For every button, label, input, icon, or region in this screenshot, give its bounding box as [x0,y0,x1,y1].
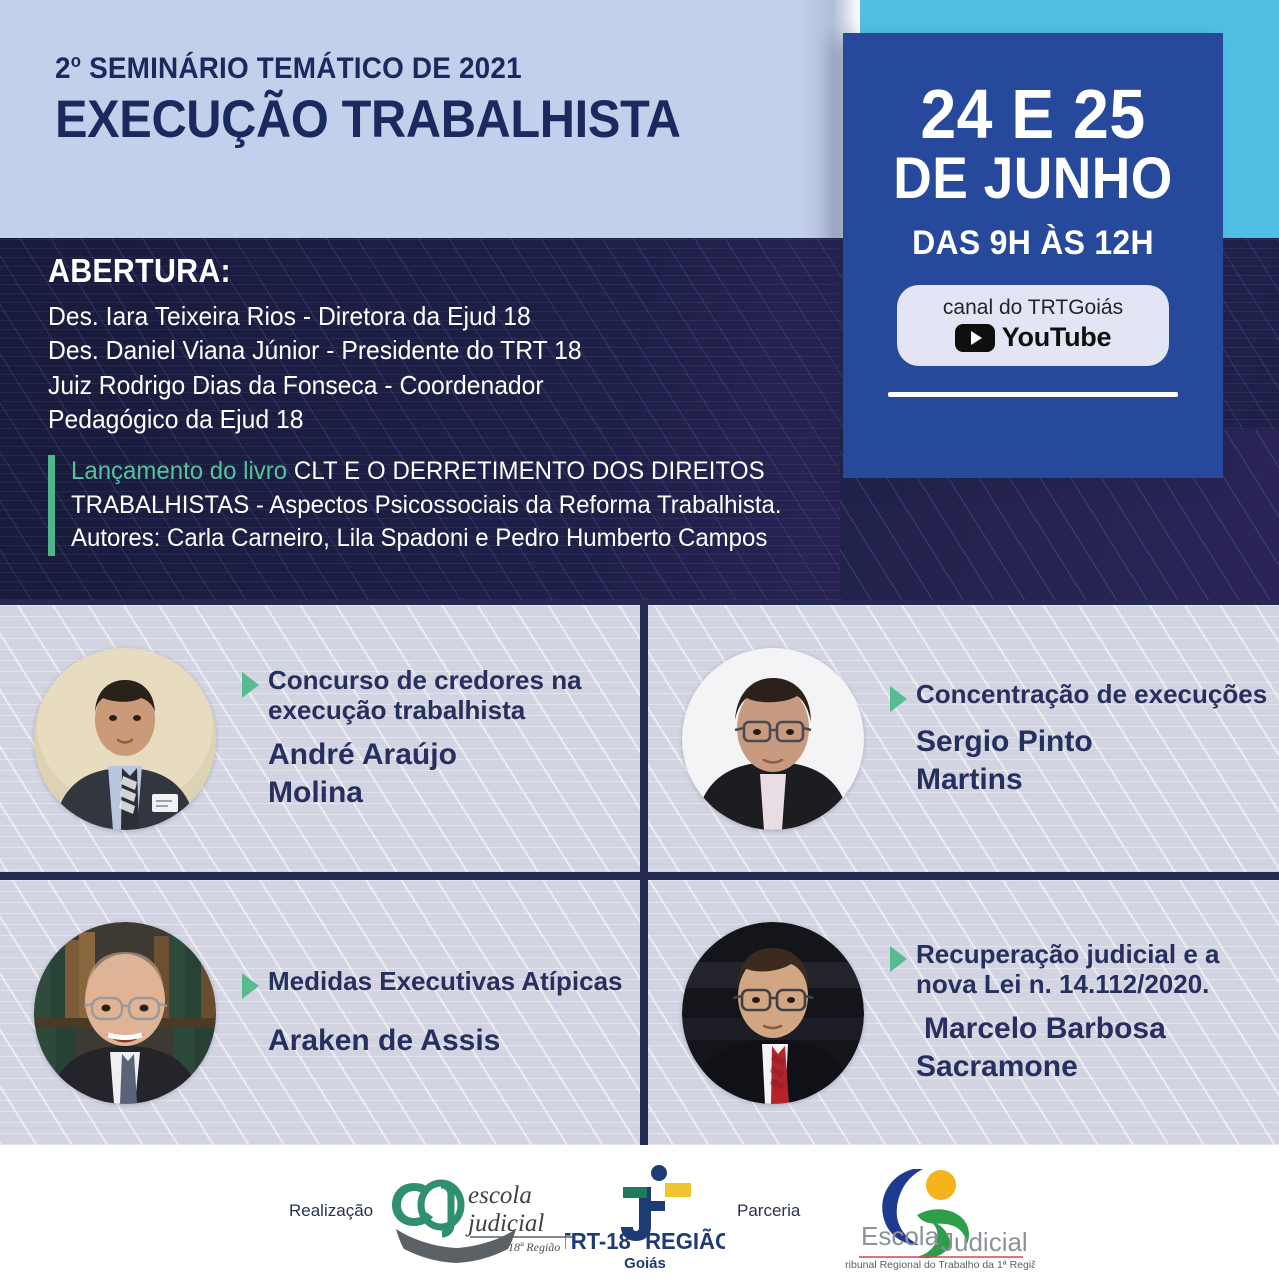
svg-text:Goiás: Goiás [624,1255,666,1272]
channel-label: canal do TRTGoiás [897,296,1169,319]
book-launch-section: Lançamento do livro CLT E O DERRETIMENTO… [48,455,871,556]
youtube-logo: YouTube [897,322,1169,353]
trt-18-regiao-logo: TRT-18ª REGIÃO Goiás [565,1161,725,1273]
svg-text:18ª Região: 18ª Região [508,1240,560,1254]
avatar [34,648,216,830]
svg-text:Escola: Escola [861,1221,940,1251]
youtube-play-icon [955,324,995,352]
youtube-channel-pill[interactable]: canal do TRTGoiás YouTube [897,285,1169,366]
triangle-bullet-icon [242,672,259,698]
speaker-card[interactable]: Recuperação judicial e a nova Lei n. 14.… [648,880,1279,1145]
speaker-name: Araken de Assis [268,1023,623,1059]
opening-title: ABERTURA: [48,252,775,290]
svg-text:Judicial: Judicial [941,1227,1028,1257]
speaker-topic-row: Concentração de execuções [890,680,1267,712]
event-kicker: 2o SEMINÁRIO TEMÁTICO DE 2021 [55,52,743,85]
speaker-name: Sergio Pinto [916,724,1267,760]
footer: Realização escola judicial 18ª Região [0,1145,1279,1280]
book-title-part1: CLT E O DERRETIMENTO DOS DIREITOS [287,457,765,485]
realizacao-label: Realização [289,1201,373,1221]
speaker-name: Marcelo Barbosa [924,1011,1279,1047]
triangle-bullet-icon [890,686,907,712]
event-poster: 2o SEMINÁRIO TEMÁTICO DE 2021 EXECUÇÃO T… [0,0,1279,1280]
triangle-bullet-icon [890,946,907,972]
speakers-grid: Concurso de credores na execução trabalh… [0,600,1279,1145]
speaker-topic: Concurso de credores na execução trabalh… [268,666,640,725]
speaker-name-cont: Martins [916,762,1267,798]
speaker-text: Medidas Executivas Atípicas Araken de As… [242,967,623,1059]
opening-line: Des. Iara Teixeira Rios - Diretora da Ej… [48,300,799,333]
book-launch-line1: Lançamento do livro CLT E O DERRETIMENTO… [71,455,839,489]
page-title: EXECUÇÃO TRABALHISTA [55,91,736,148]
parceria-label: Parceria [737,1201,800,1221]
speaker-topic: Recuperação judicial e a nova Lei n. 14.… [916,940,1279,999]
speaker-text: Recuperação judicial e a nova Lei n. 14.… [890,940,1279,1085]
kicker-rest: SEMINÁRIO TEMÁTICO DE 2021 [81,52,522,85]
book-title-part2: TRABALHISTAS - Aspectos Psicossociais da… [71,489,839,523]
event-time: DAS 9H ÀS 12H [854,224,1211,263]
speaker-topic: Medidas Executivas Atípicas [268,967,623,997]
svg-text:Tribunal Regional do Trabalho: Tribunal Regional do Trabalho da 1ª Regi… [845,1259,1035,1271]
speaker-topic-row: Concurso de credores na execução trabalh… [242,666,640,725]
book-authors: Autores: Carla Carneiro, Lila Spadoni e … [71,522,839,556]
book-launch-highlight: Lançamento do livro [71,457,287,485]
escola-judicial-18-logo: escola judicial 18ª Região [384,1167,584,1267]
speaker-name: André Araújo [268,737,640,773]
event-days: 24 E 25 [858,81,1208,148]
speaker-text: Concurso de credores na execução trabalh… [242,666,640,811]
escola-judicial-trt1-logo: Escola Judicial Tribunal Regional do Tra… [845,1163,1035,1271]
speaker-topic-row: Medidas Executivas Atípicas [242,967,623,999]
opening-section: ABERTURA: Des. Iara Teixeira Rios - Dire… [48,252,838,436]
event-month: DE JUNHO [858,150,1208,208]
avatar [34,922,216,1104]
speaker-topic-row: Recuperação judicial e a nova Lei n. 14.… [890,940,1279,999]
svg-text:judicial: judicial [465,1210,544,1237]
speaker-topic: Concentração de execuções [916,680,1267,710]
speaker-name-cont: Molina [268,775,640,811]
triangle-bullet-icon [242,973,259,999]
opening-line: Juiz Rodrigo Dias da Fonseca - Coordenad… [48,369,799,402]
speaker-card[interactable]: Concurso de credores na execução trabalh… [0,605,640,872]
kicker-prefix: 2 [55,52,71,85]
svg-text:TRT-18ª REGIÃO: TRT-18ª REGIÃO [565,1229,725,1255]
kicker-ordinal: o [71,51,81,71]
speaker-text: Concentração de execuções Sergio Pinto M… [890,680,1267,798]
date-card: 24 E 25 DE JUNHO DAS 9H ÀS 12H canal do … [843,33,1223,478]
poster-header: 2o SEMINÁRIO TEMÁTICO DE 2021 EXECUÇÃO T… [55,52,795,148]
avatar [682,648,864,830]
avatar [682,922,864,1104]
speaker-name-cont: Sacramone [916,1049,1279,1085]
speaker-card[interactable]: Medidas Executivas Atípicas Araken de As… [0,880,640,1145]
youtube-wordmark: YouTube [1002,322,1111,353]
opening-line: Pedagógico da Ejud 18 [48,403,799,436]
grid-horizontal-divider [0,872,1279,880]
svg-text:escola: escola [468,1182,532,1209]
opening-list: Des. Iara Teixeira Rios - Diretora da Ej… [48,300,838,436]
opening-line: Des. Daniel Viana Júnior - Presidente do… [48,334,799,367]
speaker-card[interactable]: Concentração de execuções Sergio Pinto M… [648,605,1279,872]
card-divider [888,392,1178,397]
